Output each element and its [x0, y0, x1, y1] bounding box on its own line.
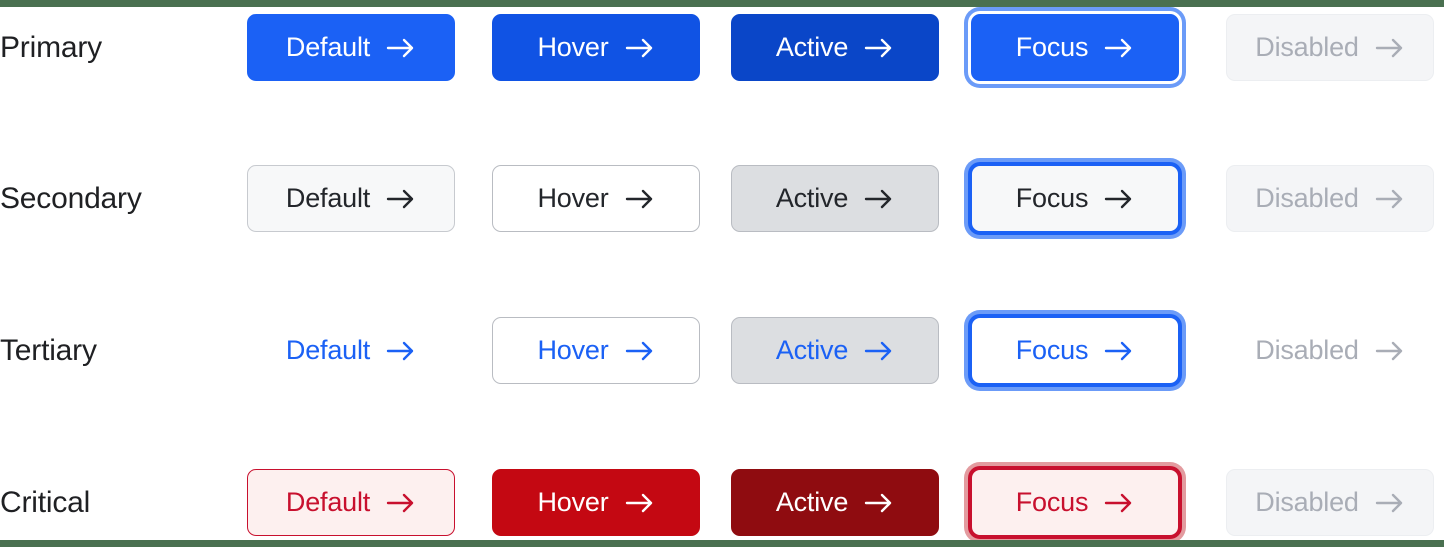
arrow-right-icon	[864, 492, 894, 514]
cell-tertiary-disabled: Disabled	[1210, 303, 1444, 398]
button-primary-active[interactable]: Active	[731, 14, 939, 81]
button-primary-default[interactable]: Default	[247, 14, 455, 81]
button-secondary-default[interactable]: Default	[247, 165, 455, 232]
button-label: Active	[776, 183, 848, 214]
button-primary-disabled: Disabled	[1226, 14, 1434, 81]
button-critical-disabled: Disabled	[1226, 469, 1434, 536]
arrow-right-icon	[386, 37, 416, 59]
row-label-secondary: Secondary	[0, 182, 240, 216]
button-primary-focus[interactable]: Focus	[971, 14, 1179, 81]
cell-primary-default: Default	[231, 0, 471, 95]
button-critical-focus[interactable]: Focus	[971, 469, 1179, 536]
button-label: Active	[776, 335, 848, 366]
cell-secondary-active: Active	[715, 151, 955, 246]
button-tertiary-active[interactable]: Active	[731, 317, 939, 384]
arrow-right-icon	[1375, 37, 1405, 59]
button-state-matrix: Primary Default Hover Active Focus	[0, 0, 1444, 547]
cell-critical-focus: Focus	[955, 455, 1195, 550]
cell-critical-active: Active	[715, 455, 955, 550]
button-label: Hover	[537, 487, 608, 518]
row-label-primary: Primary	[0, 31, 240, 65]
button-tertiary-focus[interactable]: Focus	[971, 317, 1179, 384]
arrow-right-icon	[386, 188, 416, 210]
arrow-right-icon	[625, 340, 655, 362]
button-primary-hover[interactable]: Hover	[492, 14, 700, 81]
cell-primary-active: Active	[715, 0, 955, 95]
arrow-right-icon	[1375, 188, 1405, 210]
button-tertiary-disabled: Disabled	[1226, 317, 1434, 384]
variant-row-critical: Critical Default Hover Active Focus	[0, 455, 1444, 550]
button-label: Default	[286, 335, 370, 366]
cell-secondary-disabled: Disabled	[1210, 151, 1444, 246]
button-label: Default	[286, 487, 370, 518]
button-label: Disabled	[1255, 487, 1358, 518]
row-label-tertiary: Tertiary	[0, 334, 240, 368]
arrow-right-icon	[1104, 492, 1134, 514]
button-label: Hover	[537, 32, 608, 63]
arrow-right-icon	[864, 340, 894, 362]
button-label: Hover	[537, 183, 608, 214]
cell-secondary-default: Default	[231, 151, 471, 246]
variant-row-primary: Primary Default Hover Active Focus	[0, 0, 1444, 95]
button-label: Disabled	[1255, 335, 1358, 366]
button-label: Disabled	[1255, 32, 1358, 63]
cell-secondary-focus: Focus	[955, 151, 1195, 246]
arrow-right-icon	[864, 37, 894, 59]
button-label: Focus	[1016, 487, 1089, 518]
arrow-right-icon	[625, 37, 655, 59]
button-label: Active	[776, 32, 848, 63]
button-critical-hover[interactable]: Hover	[492, 469, 700, 536]
arrow-right-icon	[625, 188, 655, 210]
bottom-edge-bar	[0, 540, 1444, 547]
arrow-right-icon	[1104, 340, 1134, 362]
cell-secondary-hover: Hover	[476, 151, 716, 246]
button-label: Default	[286, 32, 370, 63]
button-label: Default	[286, 183, 370, 214]
arrow-right-icon	[1104, 188, 1134, 210]
arrow-right-icon	[864, 188, 894, 210]
cell-primary-disabled: Disabled	[1210, 0, 1444, 95]
arrow-right-icon	[1375, 492, 1405, 514]
button-tertiary-hover[interactable]: Hover	[492, 317, 700, 384]
cell-primary-focus: Focus	[955, 0, 1195, 95]
cell-critical-default: Default	[231, 455, 471, 550]
arrow-right-icon	[625, 492, 655, 514]
arrow-right-icon	[386, 340, 416, 362]
cell-tertiary-focus: Focus	[955, 303, 1195, 398]
cell-critical-disabled: Disabled	[1210, 455, 1444, 550]
button-label: Hover	[537, 335, 608, 366]
top-edge-bar	[0, 0, 1444, 7]
cell-primary-hover: Hover	[476, 0, 716, 95]
button-label: Focus	[1016, 335, 1089, 366]
arrow-right-icon	[1375, 340, 1405, 362]
variant-row-tertiary: Tertiary Default Hover Active Focus	[0, 303, 1444, 398]
row-label-critical: Critical	[0, 486, 240, 520]
button-secondary-active[interactable]: Active	[731, 165, 939, 232]
cell-tertiary-active: Active	[715, 303, 955, 398]
button-secondary-hover[interactable]: Hover	[492, 165, 700, 232]
button-label: Focus	[1016, 183, 1089, 214]
button-critical-default[interactable]: Default	[247, 469, 455, 536]
cell-critical-hover: Hover	[476, 455, 716, 550]
button-secondary-focus[interactable]: Focus	[971, 165, 1179, 232]
button-label: Active	[776, 487, 848, 518]
cell-tertiary-default: Default	[231, 303, 471, 398]
button-label: Focus	[1016, 32, 1089, 63]
button-label: Disabled	[1255, 183, 1358, 214]
variant-row-secondary: Secondary Default Hover Active Focus	[0, 151, 1444, 246]
arrow-right-icon	[386, 492, 416, 514]
button-critical-active[interactable]: Active	[731, 469, 939, 536]
button-secondary-disabled: Disabled	[1226, 165, 1434, 232]
cell-tertiary-hover: Hover	[476, 303, 716, 398]
button-tertiary-default[interactable]: Default	[247, 317, 455, 384]
arrow-right-icon	[1104, 37, 1134, 59]
